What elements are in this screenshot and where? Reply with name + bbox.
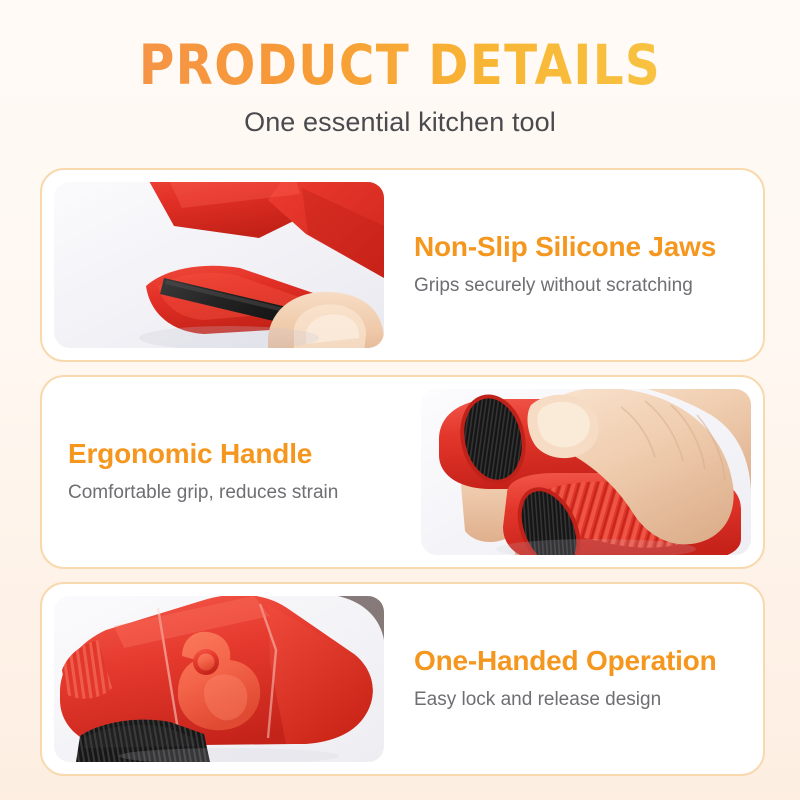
feature-card-non-slip-silicone-jaws: Non-Slip Silicone Jaws Grips securely wi… (40, 168, 765, 362)
feature-card-text: Non-Slip Silicone Jaws Grips securely wi… (392, 232, 763, 298)
feature-card-text: One-Handed Operation Easy lock and relea… (392, 646, 763, 712)
feature-description: Comfortable grip, reduces strain (68, 480, 368, 506)
feature-card-list: Non-Slip Silicone Jaws Grips securely wi… (40, 168, 765, 789)
feature-card-one-handed-operation: One-Handed Operation Easy lock and relea… (40, 582, 765, 776)
feature-heading: Ergonomic Handle (68, 439, 391, 470)
page-title: PRODUCT DETAILS (48, 38, 752, 93)
page-header: PRODUCT DETAILS One essential kitchen to… (0, 0, 800, 138)
photo-ergonomic-handle (421, 389, 751, 555)
photo-one-handed-lock (54, 596, 384, 762)
page-subtitle: One essential kitchen tool (0, 107, 800, 138)
product-details-page: PRODUCT DETAILS One essential kitchen to… (0, 0, 800, 800)
feature-heading: One-Handed Operation (414, 646, 745, 677)
feature-card-text: Ergonomic Handle Comfortable grip, reduc… (42, 439, 413, 505)
feature-heading: Non-Slip Silicone Jaws (414, 232, 745, 263)
feature-card-ergonomic-handle: Ergonomic Handle Comfortable grip, reduc… (40, 375, 765, 569)
photo-silicone-jaws (54, 182, 384, 348)
feature-description: Easy lock and release design (414, 687, 714, 713)
feature-description: Grips securely without scratching (414, 273, 714, 299)
